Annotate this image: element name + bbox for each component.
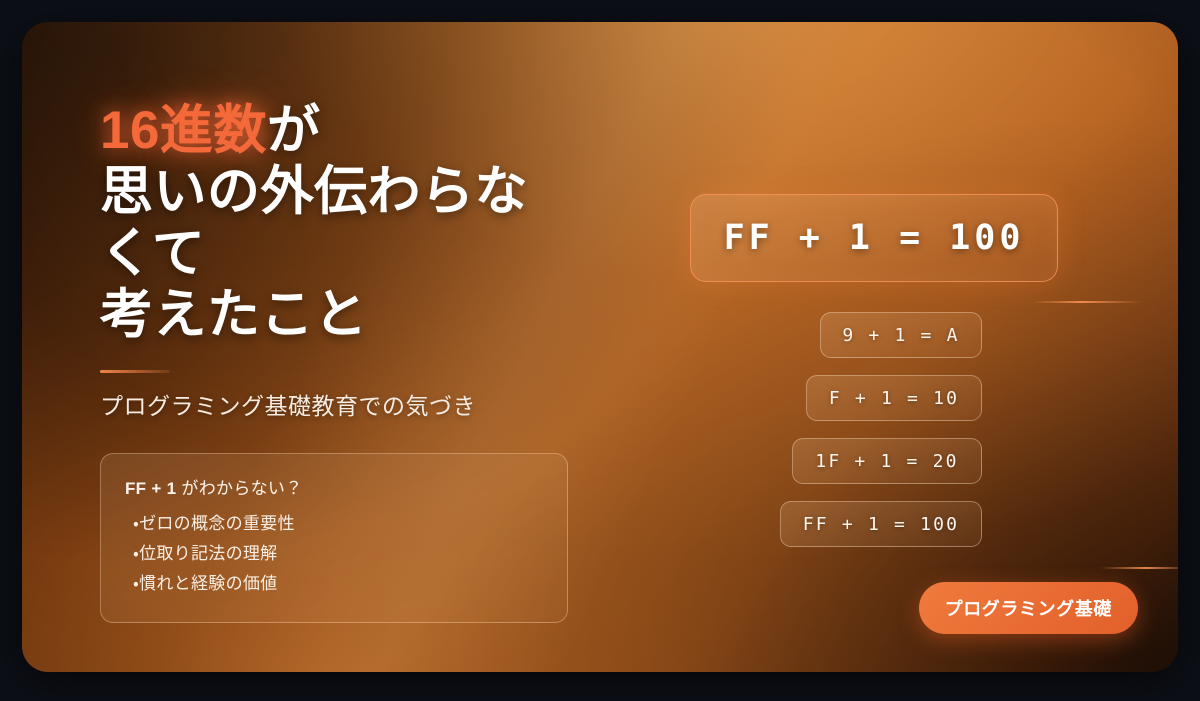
info-box-title-strong: FF + 1 [125, 479, 176, 498]
info-box-title-rest: がわからない？ [176, 479, 302, 498]
left-content-column: 16進数が 思いの外伝わらな くて 考えたこと プログラミング基礎教育での気づき… [100, 100, 660, 623]
accent-line-top [1032, 301, 1142, 303]
headline-line-3: くて [100, 223, 660, 284]
accent-line-bottom [1100, 567, 1178, 569]
category-badge: プログラミング基礎 [919, 582, 1138, 634]
headline-line-1-rest: が [267, 101, 321, 160]
formula-steps-list: 9 + 1 = A F + 1 = 10 1F + 1 = 20 FF + 1 … [682, 312, 982, 564]
headline-highlight: 16進数 [100, 101, 267, 160]
headline-line-4: 考えたこと [100, 284, 660, 345]
info-box-list: ・ゼロの概念の重要性 ・位取り記法の理解 ・慣れと経験の価値 [125, 509, 543, 600]
slide-card: 16進数が 思いの外伝わらな くて 考えたこと プログラミング基礎教育での気づき… [22, 22, 1178, 672]
page-subtitle: プログラミング基礎教育での気づき [100, 387, 660, 421]
headline-line-2: 思いの外伝わらな [100, 161, 660, 222]
formula-step: FF + 1 = 100 [780, 501, 982, 547]
title-divider [100, 370, 170, 373]
headline-line-1: 16進数が [100, 100, 660, 161]
page-title: 16進数が 思いの外伝わらな くて 考えたこと [100, 100, 660, 346]
slide-stage: 16進数が 思いの外伝わらな くて 考えたこと プログラミング基礎教育での気づき… [0, 0, 1200, 701]
list-item: ・慣れと経験の価値 [133, 569, 543, 599]
info-box-title: FF + 1 がわからない？ [125, 474, 543, 499]
list-item: ・ゼロの概念の重要性 [133, 509, 543, 539]
formula-step: 1F + 1 = 20 [792, 438, 982, 484]
info-box: FF + 1 がわからない？ ・ゼロの概念の重要性 ・位取り記法の理解 ・慣れと… [100, 453, 568, 623]
formula-step: 9 + 1 = A [820, 312, 982, 358]
list-item: ・位取り記法の理解 [133, 539, 543, 569]
formula-step: F + 1 = 10 [806, 375, 982, 421]
hero-formula-box: FF + 1 = 100 [690, 194, 1058, 282]
